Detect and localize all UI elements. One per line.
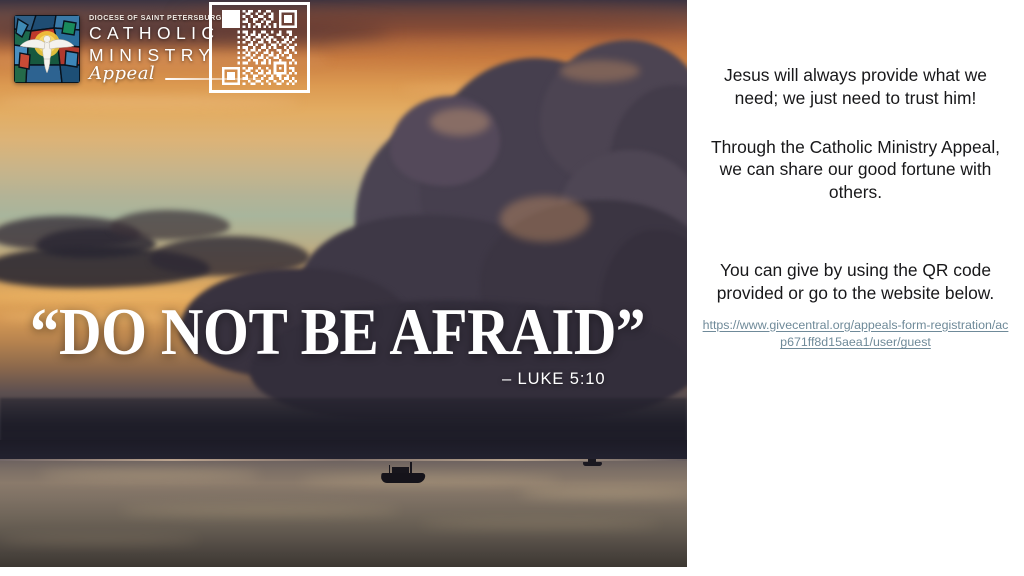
distant-boat-silhouette <box>583 458 602 467</box>
headline-quote: “DO NOT BE AFRAID” <box>30 300 593 364</box>
headline-block: “DO NOT BE AFRAID” – LUKE 5:10 <box>30 300 670 389</box>
background-photo: DIOCESE OF SAINT PETERSBURG CATHOLIC MIN… <box>0 0 687 567</box>
sea-glint <box>40 470 260 479</box>
catholic-ministry-appeal-logo: DIOCESE OF SAINT PETERSBURG CATHOLIC MIN… <box>14 12 222 85</box>
sea-glint <box>520 488 687 498</box>
right-text-panel: Jesus will always provide what we need; … <box>687 0 1024 576</box>
cloud-rim-light <box>430 108 490 136</box>
sea-glint <box>120 506 400 515</box>
sea-glint <box>300 476 560 484</box>
logo-line-ministry: MINISTRY <box>89 47 222 65</box>
panel-paragraph-3: You can give by using the QR code provid… <box>701 259 1010 305</box>
logo-appeal-row: Appeal <box>89 65 222 85</box>
give-central-url-link[interactable]: https://www.givecentral.org/appeals-form… <box>701 317 1010 352</box>
sea-glint <box>420 520 660 528</box>
sea-glint <box>0 536 200 544</box>
logo-appeal-script: Appeal <box>89 63 155 84</box>
bottom-white-strip <box>0 567 1024 576</box>
panel-paragraph-2: Through the Catholic Ministry Appeal, we… <box>701 136 1010 204</box>
headline-attribution: – LUKE 5:10 <box>30 370 670 389</box>
logo-wordmark: DIOCESE OF SAINT PETERSBURG CATHOLIC MIN… <box>89 12 222 85</box>
panel-content: Jesus will always provide what we need; … <box>687 64 1024 352</box>
sky-cloud-streak <box>0 96 300 108</box>
cloud-rim-light <box>500 196 590 242</box>
panel-paragraph-1: Jesus will always provide what we need; … <box>701 64 1010 110</box>
stained-glass-dove-icon <box>14 15 80 83</box>
cloud-rim-light <box>560 60 640 82</box>
logo-diocese-line: DIOCESE OF SAINT PETERSBURG <box>89 14 222 21</box>
logo-line-catholic: CATHOLIC <box>89 25 222 43</box>
qr-code-icon[interactable] <box>209 2 310 93</box>
slide-canvas: DIOCESE OF SAINT PETERSBURG CATHOLIC MIN… <box>0 0 1024 576</box>
fishing-boat-silhouette <box>381 462 425 484</box>
